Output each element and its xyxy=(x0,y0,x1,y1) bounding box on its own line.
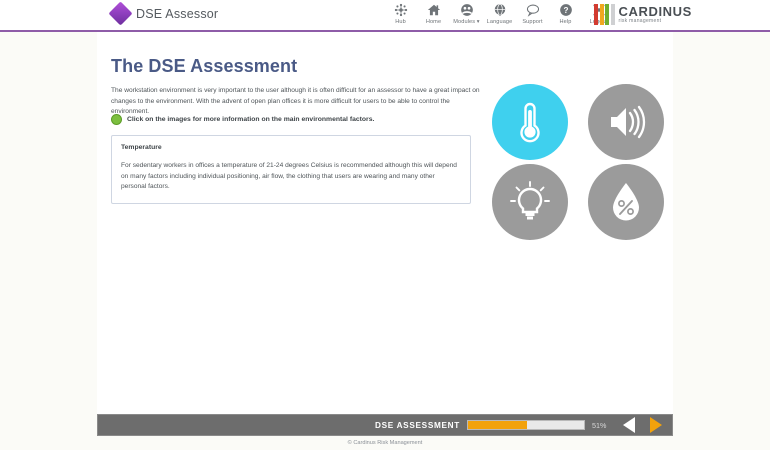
nav-label-hub: Hub xyxy=(395,19,406,25)
module-title-label: DSE ASSESSMENT xyxy=(375,421,460,430)
lightbulb-icon xyxy=(506,178,554,226)
progress-bar xyxy=(467,420,585,430)
instruction-text: Click on the images for more information… xyxy=(127,116,374,123)
previous-page-button[interactable] xyxy=(619,415,639,435)
app-root: DSE Assessor Hub xyxy=(0,0,770,450)
nav-label-support: Support xyxy=(522,19,542,25)
nav-label-help: Help xyxy=(560,19,572,25)
hub-icon xyxy=(394,2,408,17)
svg-text:?: ? xyxy=(563,5,568,14)
cardinus-logo: CARDINUS risk management xyxy=(594,4,692,25)
nav-label-home: Home xyxy=(426,19,441,25)
factor-cell-noise xyxy=(578,82,674,162)
progress-bar-fill xyxy=(468,421,527,429)
nav-item-help[interactable]: ? Help xyxy=(549,2,582,25)
speaker-sound-icon xyxy=(602,98,650,146)
factor-button-humidity[interactable] xyxy=(588,164,664,240)
modules-icon xyxy=(460,2,474,17)
factor-button-lighting[interactable] xyxy=(492,164,568,240)
factor-cell-lighting xyxy=(482,162,578,242)
globe-icon xyxy=(493,2,507,17)
instruction-callout: Click on the images for more information… xyxy=(111,114,374,125)
page-title: The DSE Assessment xyxy=(111,56,297,77)
nav-item-support[interactable]: Support xyxy=(516,2,549,25)
cardinus-tagline: risk management xyxy=(619,19,692,24)
speech-bubble-icon xyxy=(526,2,540,17)
nav-item-language[interactable]: Language xyxy=(483,2,516,25)
module-footer-bar: DSE ASSESSMENT 51% xyxy=(97,414,673,436)
info-box-title: Temperature xyxy=(121,144,461,151)
copyright-text: © Cardinus Risk Management xyxy=(0,440,770,446)
nav-item-home[interactable]: Home xyxy=(417,2,450,25)
triangle-left-icon xyxy=(623,417,635,433)
brand-name-label: DSE Assessor xyxy=(136,7,218,21)
diamond-logo-icon xyxy=(108,1,132,25)
nav-item-modules[interactable]: Modules ▾ xyxy=(450,2,483,25)
green-info-dot-icon xyxy=(111,114,122,125)
cardinus-name: CARDINUS xyxy=(619,5,692,18)
home-icon xyxy=(427,2,441,17)
cardinus-bars-icon xyxy=(594,4,615,25)
question-circle-icon: ? xyxy=(559,2,573,17)
nav-label-modules: Modules ▾ xyxy=(453,19,479,25)
nav-item-hub[interactable]: Hub xyxy=(384,2,417,25)
nav-label-language: Language xyxy=(487,19,513,25)
factor-cell-temperature xyxy=(482,82,578,162)
main-navigation: Hub Home Modules ▾ xyxy=(384,2,615,25)
factor-button-noise[interactable] xyxy=(588,84,664,160)
factor-button-temperature[interactable] xyxy=(492,84,568,160)
factor-info-box: Temperature For sedentary workers in off… xyxy=(111,135,471,204)
water-droplet-percent-icon xyxy=(602,178,650,226)
thermometer-icon xyxy=(506,98,554,146)
environmental-factor-grid xyxy=(482,82,674,242)
brand-logo[interactable]: DSE Assessor xyxy=(112,5,218,22)
info-box-body: For sedentary workers in offices a tempe… xyxy=(121,161,461,193)
triangle-right-icon xyxy=(650,417,662,433)
next-page-button[interactable] xyxy=(646,415,666,435)
content-panel: The DSE Assessment The workstation envir… xyxy=(97,32,673,414)
factor-cell-humidity xyxy=(578,162,674,242)
progress-percent-label: 51% xyxy=(592,421,612,430)
